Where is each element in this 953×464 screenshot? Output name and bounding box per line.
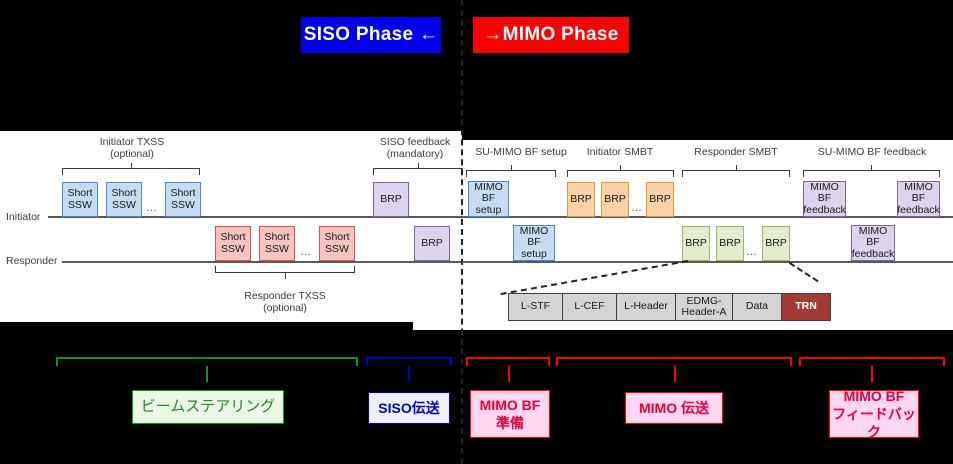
packet-block-brp-initiator[interactable]: BRP bbox=[601, 182, 629, 217]
packet-block-short-ssw[interactable]: Short SSW bbox=[165, 182, 201, 217]
bracket-stem-initiator-txss bbox=[131, 163, 132, 168]
bracket-stem-responder-txss bbox=[285, 273, 286, 279]
bracket-initiator-txss bbox=[62, 168, 200, 175]
summary-bracket-mimo-transmission bbox=[556, 357, 792, 366]
bracket-stem-responder-smbt bbox=[736, 165, 737, 170]
summary-box-mimo-bf-feedback[interactable]: MIMO BF フィードバック bbox=[829, 390, 919, 438]
packet-block-mimo-bf-feedback-responder[interactable]: MIMO BF feedback bbox=[851, 225, 895, 261]
packet-block-mimo-bf-setup-responder[interactable]: MIMO BF setup bbox=[513, 225, 555, 261]
packet-block-brp-responder[interactable]: BRP bbox=[716, 226, 744, 261]
caption-line-2: (optional) bbox=[215, 302, 355, 314]
caption-line-1: Responder TXSS bbox=[215, 290, 355, 302]
caption-line-1: SISO feedback bbox=[360, 136, 470, 148]
packet-block-short-ssw[interactable]: Short SSW bbox=[62, 182, 98, 217]
mimo-initiator-timeline-axis bbox=[462, 216, 953, 218]
packet-block-short-ssw[interactable]: Short SSW bbox=[106, 182, 142, 217]
group-caption-su-mimo-bf-setup: SU-MIMO BF setup bbox=[466, 146, 576, 158]
ppdu-field-trn[interactable]: TRN bbox=[781, 293, 831, 321]
caption-line-1: Initiator TXSS bbox=[62, 136, 202, 148]
ppdu-field-l-header[interactable]: L-Header bbox=[616, 293, 676, 321]
packet-block-short-ssw[interactable]: Short SSW bbox=[215, 226, 251, 261]
packet-block-brp-initiator[interactable]: BRP bbox=[567, 182, 595, 217]
packet-block-short-ssw[interactable]: Short SSW bbox=[259, 226, 295, 261]
bracket-responder-txss bbox=[215, 266, 355, 273]
ellipsis-responder-txss: … bbox=[300, 246, 312, 258]
bracket-stem-initiator-smbt bbox=[620, 165, 621, 170]
bracket-stem-su-mimo-bf-setup bbox=[511, 165, 512, 170]
ppdu-field-edmg-header-a[interactable]: EDMG- Header-A bbox=[675, 293, 733, 321]
group-caption-initiator-smbt: Initiator SMBT bbox=[567, 146, 673, 158]
ellipsis-initiator-smbt: … bbox=[631, 202, 643, 214]
bracket-siso-feedback bbox=[373, 168, 463, 175]
group-caption-responder-txss: Responder TXSS (optional) bbox=[215, 290, 355, 314]
bracket-su-mimo-bf-feedback bbox=[803, 170, 940, 177]
responder-timeline-axis bbox=[62, 261, 462, 263]
packet-block-brp-responder[interactable]: BRP bbox=[682, 226, 710, 261]
summary-bracket-siso-transmission bbox=[366, 357, 452, 366]
phase-divider bbox=[461, 0, 463, 464]
mimo-responder-timeline-axis bbox=[462, 261, 953, 263]
summary-box-siso-transmission[interactable]: SISO伝送 bbox=[368, 392, 450, 424]
bracket-su-mimo-bf-setup bbox=[466, 170, 556, 177]
packet-block-brp-responder[interactable]: BRP bbox=[414, 226, 450, 261]
summary-stem-mimo-bf-prep bbox=[508, 366, 510, 382]
ellipsis-initiator-txss: … bbox=[146, 202, 158, 214]
caption-line-2: (mandatory) bbox=[360, 148, 470, 160]
caption-line-2: (optional) bbox=[62, 148, 202, 160]
group-caption-siso-feedback: SISO feedback (mandatory) bbox=[360, 136, 470, 160]
group-caption-responder-smbt: Responder SMBT bbox=[682, 146, 790, 158]
packet-block-mimo-bf-feedback-initiator[interactable]: MIMO BF feedback bbox=[897, 181, 940, 217]
siso-phase-banner: SISO Phase ← bbox=[301, 17, 441, 53]
packet-block-mimo-bf-setup-initiator[interactable]: MIMO BF setup bbox=[468, 181, 509, 217]
ppdu-field-l-stf[interactable]: L-STF bbox=[508, 293, 563, 321]
packet-block-brp-initiator[interactable]: BRP bbox=[646, 182, 674, 217]
summary-box-beam-steering[interactable]: ビームステアリング bbox=[132, 390, 284, 424]
packet-block-short-ssw[interactable]: Short SSW bbox=[319, 226, 355, 261]
ellipsis-responder-smbt: … bbox=[746, 246, 758, 258]
summary-bracket-mimo-bf-prep bbox=[466, 357, 550, 366]
summary-stem-siso-transmission bbox=[408, 366, 410, 382]
summary-stem-beam-steering bbox=[206, 366, 208, 382]
bracket-stem-siso-feedback bbox=[418, 163, 419, 168]
packet-block-brp-responder[interactable]: BRP bbox=[762, 226, 790, 261]
packet-block-mimo-bf-feedback-initiator[interactable]: MIMO BF feedback bbox=[803, 181, 846, 217]
bracket-responder-smbt bbox=[682, 170, 790, 177]
row-label-initiator: Initiator bbox=[6, 211, 40, 223]
packet-block-brp-initiator[interactable]: BRP bbox=[373, 182, 409, 217]
summary-bracket-beam-steering bbox=[56, 357, 358, 366]
summary-box-mimo-bf-prep[interactable]: MIMO BF 準備 bbox=[470, 390, 550, 438]
summary-bracket-mimo-bf-feedback bbox=[799, 357, 945, 366]
bracket-stem-su-mimo-bf-feedback bbox=[871, 165, 872, 170]
summary-stem-mimo-transmission bbox=[674, 366, 676, 382]
row-label-responder: Responder bbox=[6, 255, 57, 267]
ppdu-field-l-cef[interactable]: L-CEF bbox=[562, 293, 617, 321]
bracket-initiator-smbt bbox=[567, 170, 674, 177]
mimo-phase-banner: →MIMO Phase bbox=[473, 17, 629, 53]
summary-box-mimo-transmission[interactable]: MIMO 伝送 bbox=[625, 392, 723, 424]
ppdu-field-data[interactable]: Data bbox=[732, 293, 782, 321]
group-caption-initiator-txss: Initiator TXSS (optional) bbox=[62, 136, 202, 160]
summary-stem-mimo-bf-feedback bbox=[871, 366, 873, 382]
group-caption-su-mimo-bf-feedback: SU-MIMO BF feedback bbox=[803, 146, 941, 158]
